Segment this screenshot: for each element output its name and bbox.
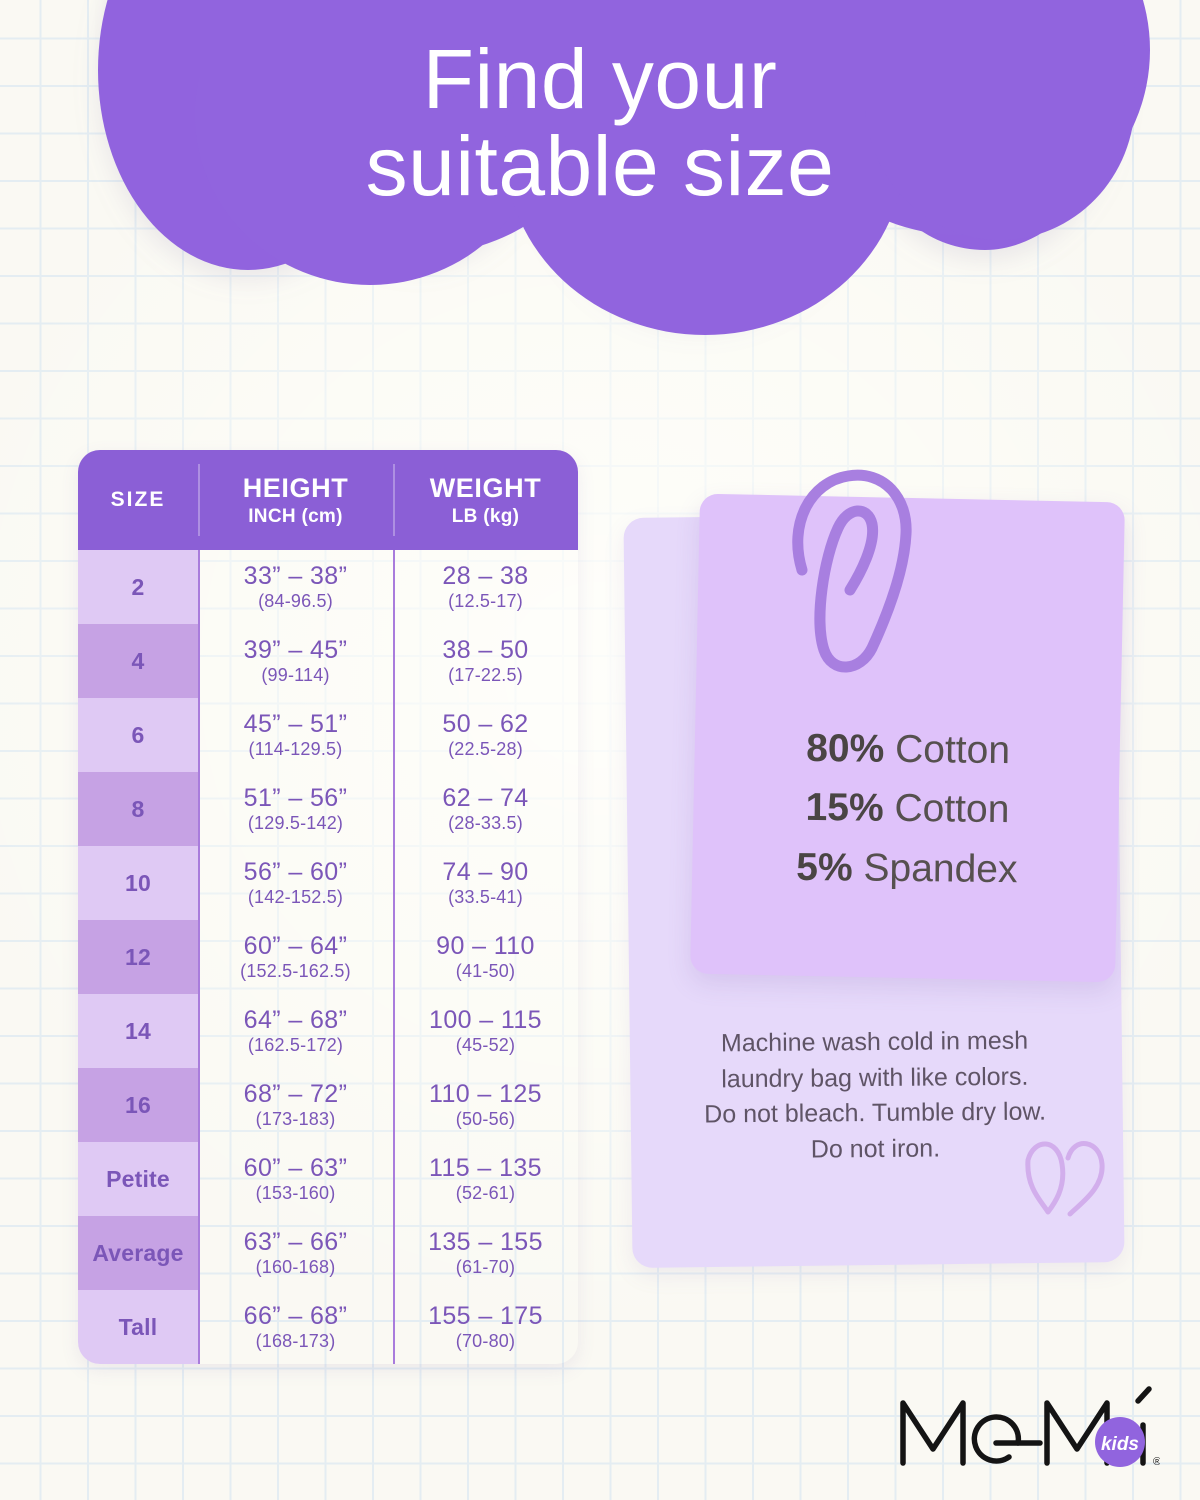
table-row: 1464” – 68”(162.5-172)100 – 115(45-52) [78, 994, 578, 1068]
size-value: Average [92, 1240, 183, 1267]
fabric-percentage: 80% [806, 727, 885, 771]
fabric-line: 80% Cotton [695, 718, 1121, 782]
height-cm-value: (99-114) [261, 665, 329, 687]
cell-weight: 135 – 155(61-70) [393, 1216, 578, 1290]
cell-weight: 50 – 62(22.5-28) [393, 698, 578, 772]
table-row: 233” – 38”(84-96.5)28 – 38(12.5-17) [78, 550, 578, 624]
table-row: Tall66” – 68”(168-173)155 – 175(70-80) [78, 1290, 578, 1364]
cell-height: 63” – 66”(160-168) [198, 1216, 393, 1290]
cell-size: 16 [78, 1068, 198, 1142]
weight-lb-value: 100 – 115 [429, 1006, 542, 1034]
heart-doodle-icon [1018, 1130, 1114, 1226]
height-cm-value: (162.5-172) [248, 1035, 343, 1057]
cell-size: 4 [78, 624, 198, 698]
cell-size: 12 [78, 920, 198, 994]
cell-height: 68” – 72”(173-183) [198, 1068, 393, 1142]
table-header-row: SIZE HEIGHT INCH (cm) WEIGHT LB (kg) [78, 450, 578, 550]
cell-weight: 38 – 50(17-22.5) [393, 624, 578, 698]
weight-kg-value: (70-80) [456, 1331, 515, 1353]
height-cm-value: (168-173) [256, 1331, 336, 1353]
size-value: 16 [125, 1092, 151, 1119]
paperclip-icon [780, 462, 960, 677]
height-inches-value: 64” – 68” [244, 1006, 348, 1034]
cell-size: 6 [78, 698, 198, 772]
weight-lb-value: 110 – 125 [429, 1080, 542, 1108]
size-value: 4 [132, 648, 145, 675]
cell-height: 33” – 38”(84-96.5) [198, 550, 393, 624]
height-cm-value: (173-183) [256, 1109, 336, 1131]
cell-weight: 110 – 125(50-56) [393, 1068, 578, 1142]
size-value: Petite [106, 1166, 170, 1193]
column-header-height-unit: INCH (cm) [248, 506, 343, 528]
table-row: Petite60” – 63”(153-160)115 – 135(52-61) [78, 1142, 578, 1216]
table-row: 1056” – 60”(142-152.5)74 – 90(33.5-41) [78, 846, 578, 920]
weight-kg-value: (45-52) [456, 1035, 515, 1057]
size-value: 8 [132, 796, 145, 823]
cell-height: 45” – 51”(114-129.5) [198, 698, 393, 772]
height-inches-value: 51” – 56” [244, 784, 348, 812]
page-title: Find your suitable size [0, 36, 1200, 211]
cell-weight: 28 – 38(12.5-17) [393, 550, 578, 624]
cell-height: 66” – 68”(168-173) [198, 1290, 393, 1364]
cell-size: 10 [78, 846, 198, 920]
weight-lb-value: 155 – 175 [428, 1302, 543, 1330]
cell-height: 39” – 45”(99-114) [198, 624, 393, 698]
cell-weight: 74 – 90(33.5-41) [393, 846, 578, 920]
size-value: Tall [119, 1314, 158, 1341]
height-cm-value: (114-129.5) [249, 739, 343, 761]
table-row: 439” – 45”(99-114)38 – 50(17-22.5) [78, 624, 578, 698]
kids-badge-label: kids [1101, 1434, 1139, 1455]
size-chart-table: SIZE HEIGHT INCH (cm) WEIGHT LB (kg) 233… [78, 450, 578, 1364]
weight-lb-value: 115 – 135 [429, 1154, 542, 1182]
fabric-percentage: 15% [805, 786, 884, 830]
weight-lb-value: 74 – 90 [442, 858, 528, 886]
weight-kg-value: (61-70) [456, 1257, 515, 1279]
column-header-size-label: SIZE [111, 488, 166, 512]
height-inches-value: 60” – 63” [244, 1154, 348, 1182]
column-header-size: SIZE [78, 450, 198, 550]
cell-height: 60” – 64”(152.5-162.5) [198, 920, 393, 994]
table-row: 645” – 51”(114-129.5)50 – 62(22.5-28) [78, 698, 578, 772]
column-header-weight: WEIGHT LB (kg) [393, 450, 578, 550]
weight-lb-value: 135 – 155 [428, 1228, 543, 1256]
table-row: 1260” – 64”(152.5-162.5)90 – 110(41-50) [78, 920, 578, 994]
table-row: 851” – 56”(129.5-142)62 – 74(28-33.5) [78, 772, 578, 846]
fabric-percentage: 5% [796, 845, 853, 889]
fabric-material: Cotton [884, 728, 1010, 772]
cell-size: 8 [78, 772, 198, 846]
cell-size: Average [78, 1216, 198, 1290]
cell-height: 60” – 63”(153-160) [198, 1142, 393, 1216]
fabric-line: 15% Cotton [695, 777, 1121, 841]
weight-kg-value: (28-33.5) [448, 813, 523, 835]
fabric-composition-list: 80% Cotton15% Cotton5% Spandex [694, 718, 1121, 900]
height-inches-value: 33” – 38” [244, 562, 348, 590]
height-inches-value: 45” – 51” [244, 710, 348, 738]
height-cm-value: (152.5-162.5) [240, 961, 351, 983]
size-value: 10 [125, 870, 151, 897]
cell-weight: 115 – 135(52-61) [393, 1142, 578, 1216]
cell-height: 51” – 56”(129.5-142) [198, 772, 393, 846]
weight-lb-value: 62 – 74 [442, 784, 528, 812]
fabric-line: 5% Spandex [694, 836, 1120, 900]
size-value: 6 [132, 722, 145, 749]
height-inches-value: 63” – 66” [244, 1228, 348, 1256]
cell-weight: 155 – 175(70-80) [393, 1290, 578, 1364]
cell-weight: 62 – 74(28-33.5) [393, 772, 578, 846]
registered-mark: ® [1153, 1456, 1160, 1468]
fabric-material: Spandex [852, 846, 1017, 891]
weight-kg-value: (22.5-28) [448, 739, 523, 761]
height-cm-value: (160-168) [256, 1257, 336, 1279]
cell-height: 64” – 68”(162.5-172) [198, 994, 393, 1068]
column-header-weight-unit: LB (kg) [452, 506, 520, 528]
size-value: 14 [125, 1018, 151, 1045]
cell-size: Tall [78, 1290, 198, 1364]
size-value: 12 [125, 944, 151, 971]
cell-size: Petite [78, 1142, 198, 1216]
height-inches-value: 60” – 64” [244, 932, 348, 960]
table-row: Average63” – 66”(160-168)135 – 155(61-70… [78, 1216, 578, 1290]
weight-kg-value: (17-22.5) [448, 665, 523, 687]
weight-kg-value: (41-50) [456, 961, 515, 983]
column-header-weight-label: WEIGHT [430, 473, 542, 504]
cell-size: 14 [78, 994, 198, 1068]
height-inches-value: 56” – 60” [244, 858, 348, 886]
column-header-height: HEIGHT INCH (cm) [198, 450, 393, 550]
height-cm-value: (142-152.5) [248, 887, 343, 909]
height-inches-value: 68” – 72” [244, 1080, 348, 1108]
weight-lb-value: 90 – 110 [436, 932, 535, 960]
weight-kg-value: (33.5-41) [448, 887, 523, 909]
notes-area: 80% Cotton15% Cotton5% Spandex Machine w… [600, 440, 1160, 1280]
weight-lb-value: 50 – 62 [442, 710, 528, 738]
cell-weight: 90 – 110(41-50) [393, 920, 578, 994]
height-cm-value: (129.5-142) [248, 813, 343, 835]
size-value: 2 [132, 574, 145, 601]
weight-lb-value: 38 – 50 [442, 636, 528, 664]
memoi-kids-logo: kids ® [895, 1385, 1160, 1480]
height-inches-value: 66” – 68” [244, 1302, 348, 1330]
cell-weight: 100 – 115(45-52) [393, 994, 578, 1068]
table-row: 1668” – 72”(173-183)110 – 125(50-56) [78, 1068, 578, 1142]
fabric-material: Cotton [883, 787, 1009, 831]
column-header-height-label: HEIGHT [243, 473, 349, 504]
cell-height: 56” – 60”(142-152.5) [198, 846, 393, 920]
weight-kg-value: (52-61) [456, 1183, 515, 1205]
height-cm-value: (153-160) [256, 1183, 336, 1205]
height-inches-value: 39” – 45” [244, 636, 348, 664]
weight-kg-value: (50-56) [456, 1109, 515, 1131]
table-body: 233” – 38”(84-96.5)28 – 38(12.5-17)439” … [78, 550, 578, 1364]
weight-lb-value: 28 – 38 [442, 562, 528, 590]
weight-kg-value: (12.5-17) [448, 591, 523, 613]
height-cm-value: (84-96.5) [258, 591, 333, 613]
cell-size: 2 [78, 550, 198, 624]
